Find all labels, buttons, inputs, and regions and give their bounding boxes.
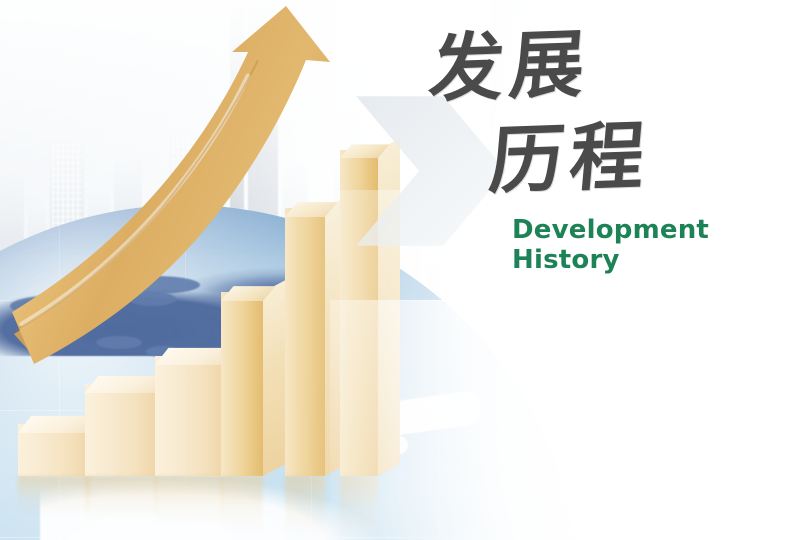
title-chinese-line-1: 发展: [426, 27, 593, 107]
title-block: 发展 历程 Development History: [424, 22, 724, 282]
title-english-line-2: History: [512, 244, 620, 277]
bar-1: [18, 424, 90, 476]
banner-canvas: 发展 历程 Development History: [0, 0, 800, 540]
title-english-line-1: Development: [512, 214, 709, 247]
title-chinese-line-2: 历程: [486, 119, 653, 199]
bottom-right-fade-overlay: [330, 300, 660, 540]
